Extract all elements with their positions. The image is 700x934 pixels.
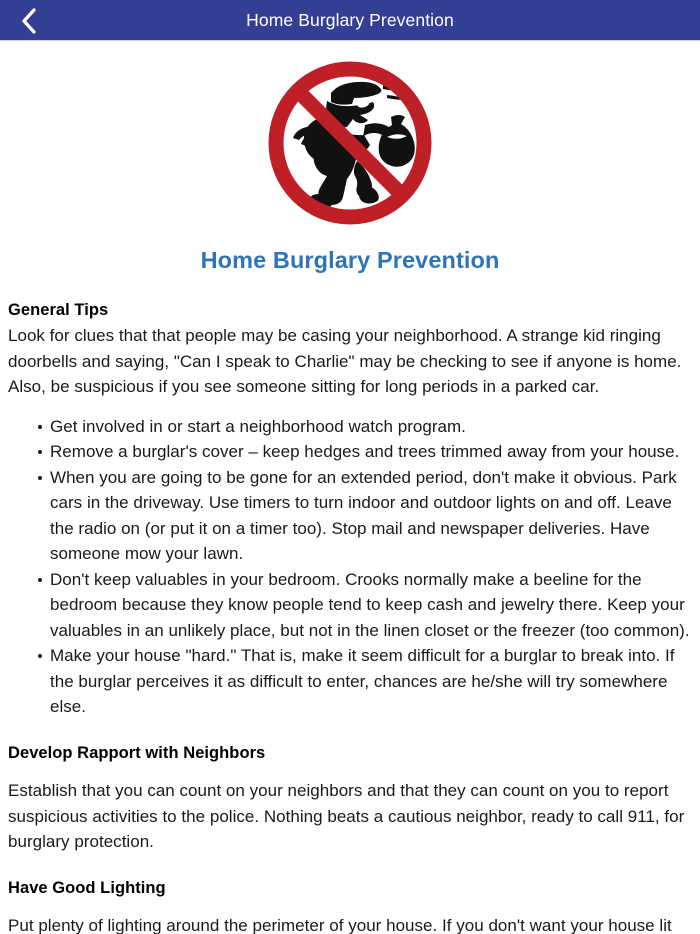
list-item: Don't keep valuables in your bedroom. Cr… [8,567,692,644]
hero-image [0,41,700,229]
section-paragraph-have-good-lighting: Put plenty of lighting around the perime… [8,913,692,934]
app-root: Home Burglary Prevention [0,0,700,934]
article-content: Home Burglary Prevention General Tips Lo… [0,41,700,934]
section-heading-general-tips: General Tips [8,299,692,321]
list-item: Make your house "hard." That is, make it… [8,643,692,720]
list-item: When you are going to be gone for an ext… [8,465,692,567]
article-body: General Tips Look for clues that that pe… [0,299,700,934]
section-paragraph-general-tips: Look for clues that that people may be c… [8,323,692,400]
list-item: Get involved in or start a neighborhood … [8,414,692,440]
section-heading-have-good-lighting: Have Good Lighting [8,877,692,899]
section-heading-develop-rapport: Develop Rapport with Neighbors [8,742,692,764]
no-burglary-prohibition-icon [261,57,439,229]
section-paragraph-develop-rapport: Establish that you can count on your nei… [8,778,692,855]
back-button[interactable] [0,0,58,41]
chevron-left-icon [19,6,39,36]
general-tips-list: Get involved in or start a neighborhood … [8,414,692,720]
page-title: Home Burglary Prevention [0,246,700,274]
app-header-title: Home Burglary Prevention [246,0,454,41]
list-item: Remove a burglar's cover – keep hedges a… [8,439,692,465]
app-header-bar: Home Burglary Prevention [0,0,700,41]
